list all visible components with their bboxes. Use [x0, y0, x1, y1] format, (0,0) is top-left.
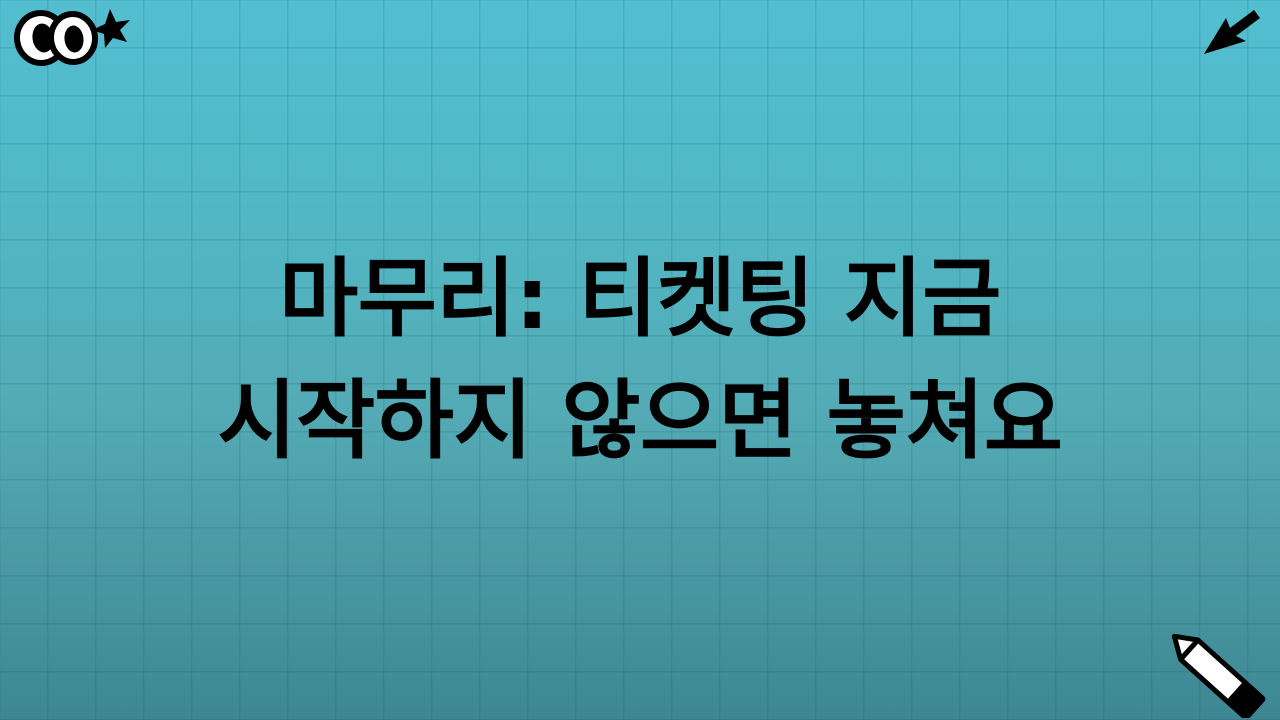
- right-eye-icon: [49, 12, 98, 64]
- pencil-icon: [1156, 634, 1272, 718]
- graph-paper-grid: [0, 0, 1280, 720]
- headline-line-1: 마무리: 티켓팅 지금: [90, 238, 1190, 360]
- headline-line-2: 시작하지 않으면 놓쳐요: [90, 360, 1190, 482]
- slide-canvas: 마무리: 티켓팅 지금 시작하지 않으면 놓쳐요: [0, 0, 1280, 720]
- headline-container: 마무리: 티켓팅 지금 시작하지 않으면 놓쳐요: [0, 0, 1280, 720]
- eyes-star-logo: [10, 5, 130, 67]
- page-title: 마무리: 티켓팅 지금 시작하지 않으면 놓쳐요: [90, 238, 1190, 482]
- arrow-cursor-icon: [1200, 6, 1262, 62]
